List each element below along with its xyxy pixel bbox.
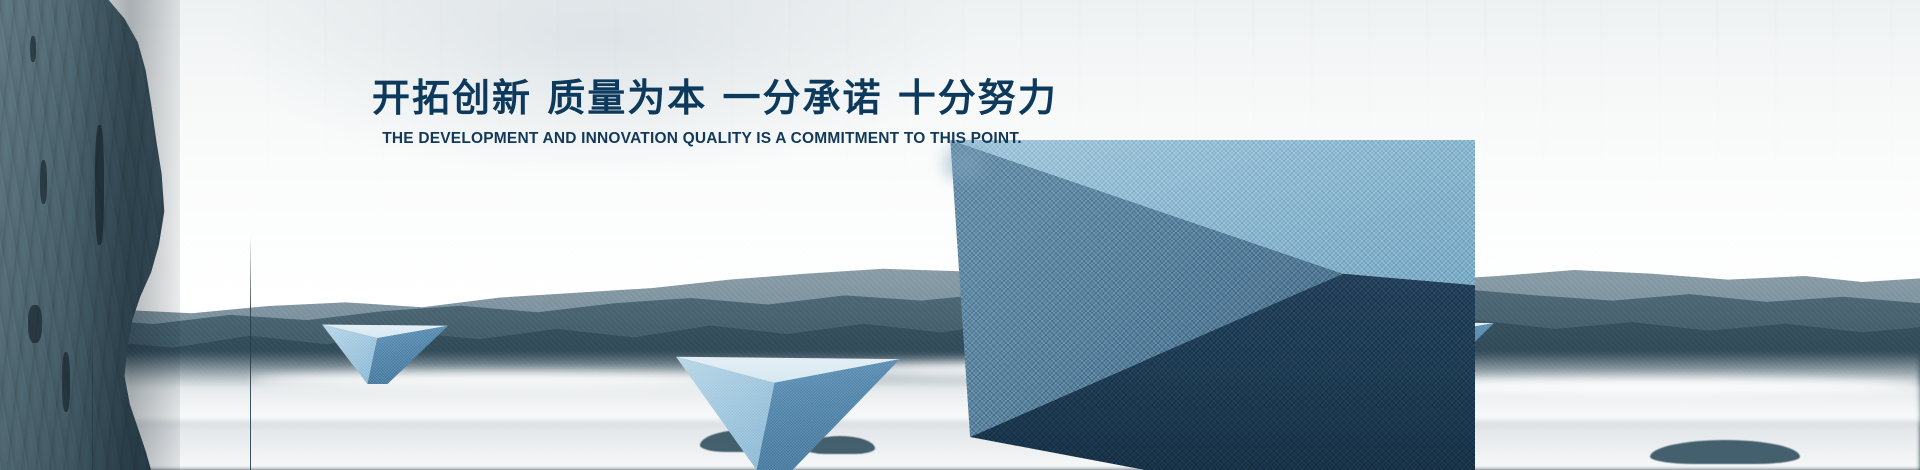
pyramid-texture — [322, 322, 448, 384]
cliff-crack — [28, 305, 42, 343]
pyramid-texture — [815, 140, 1475, 470]
cable-wire — [250, 236, 251, 470]
rock-cliff — [0, 0, 265, 470]
cliff-crack — [95, 125, 104, 245]
cliff-crack — [30, 36, 36, 62]
page-title: 开拓创新 质量为本 一分承诺 十分努力 — [372, 76, 1032, 121]
page-subtitle: THE DEVELOPMENT AND INNOVATION QUALITY I… — [372, 130, 1032, 148]
inverted-pyramid-left — [322, 322, 448, 384]
hero-banner: 开拓创新 质量为本 一分承诺 十分努力 THE DEVELOPMENT AND … — [0, 0, 1920, 470]
inverted-pyramid-large — [815, 140, 1475, 470]
banner-text: 开拓创新 质量为本 一分承诺 十分努力 THE DEVELOPMENT AND … — [372, 76, 1032, 148]
cable-wire — [92, 336, 93, 470]
cliff-shadow — [70, 0, 180, 470]
cliff-crack — [62, 352, 70, 412]
cliff-crack — [40, 160, 47, 204]
